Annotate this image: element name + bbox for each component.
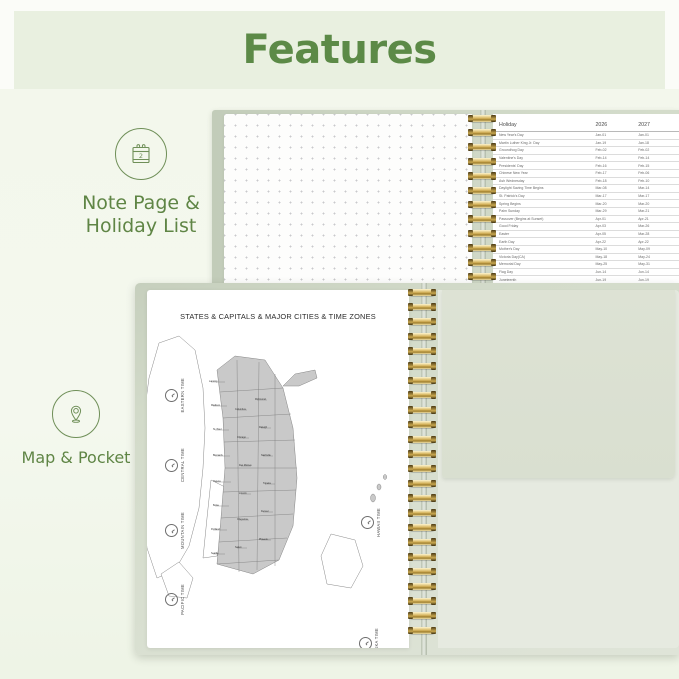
svg-text:Lincoln: Lincoln	[239, 492, 247, 495]
holiday-name: Flag Day	[493, 268, 593, 276]
spiral-coil	[469, 201, 495, 208]
svg-text:Richmond: Richmond	[255, 398, 266, 401]
spiral-coil	[409, 348, 435, 355]
holiday-table-header-row: Holiday 2026 2027	[493, 120, 679, 132]
holiday-date-2026: Mar-08	[593, 185, 636, 193]
holiday-date-2027: Mar-20	[636, 200, 679, 208]
holiday-row: Earth DayApr-22Apr-22	[493, 238, 679, 246]
map-page: STATES & CAPITALS & MAJOR CITIES & TIME …	[147, 290, 409, 648]
holiday-date-2026: Jun-14	[593, 268, 636, 276]
holiday-row: Daylight Saving Time BeginsMar-08Mar-14	[493, 185, 679, 193]
holiday-row: Flag DayJun-14Jun-14	[493, 268, 679, 276]
spiral-coil	[409, 583, 435, 590]
holiday-row: EasterApr-05Mar-28	[493, 230, 679, 238]
feature-map-pocket: Map & Pocket	[10, 390, 142, 468]
holiday-name: Valentine's Day	[493, 154, 593, 162]
holiday-row: Chinese New YearFeb-17Feb-06	[493, 169, 679, 177]
holiday-date-2026: May-18	[593, 253, 636, 261]
holiday-name: Chinese New Year	[493, 169, 593, 177]
holiday-name: Victoria Day(CA)	[493, 253, 593, 261]
holiday-date-2027: Apr-21	[636, 215, 679, 223]
svg-text:Salem: Salem	[235, 546, 242, 549]
holiday-row: Groundhog DayFeb-02Feb-02	[493, 147, 679, 155]
holiday-name: Daylight Saving Time Begins	[493, 185, 593, 193]
spiral-coil	[409, 289, 435, 296]
us-map-illustration: Seattle Portland Boise Helena Bismarck S…	[147, 326, 409, 648]
holiday-date-2027: Jan-01	[636, 132, 679, 140]
spiral-coil	[409, 304, 435, 311]
holiday-date-2026: Feb-16	[593, 162, 636, 170]
holiday-date-2026: May-25	[593, 261, 636, 269]
svg-text:Portland: Portland	[211, 528, 221, 531]
spiral-coil	[469, 187, 495, 194]
time-zone-hawaii: HAWAII TIME	[361, 508, 382, 537]
spiral-coil	[469, 230, 495, 237]
holiday-name: Passover (Begins at Sunset)	[493, 215, 593, 223]
holiday-col-name: Holiday	[493, 120, 593, 132]
svg-text:Des Moines: Des Moines	[239, 464, 252, 467]
holiday-date-2027: Feb-14	[636, 154, 679, 162]
holiday-list-page: Holiday 2026 2027 New Year's DayJan-01Ja…	[493, 114, 679, 296]
spiral-coil	[409, 539, 435, 546]
spiral-coil	[469, 173, 495, 180]
holiday-date-2026: Feb-17	[593, 169, 636, 177]
clock-icon	[359, 637, 372, 648]
map-page-title: STATES & CAPITALS & MAJOR CITIES & TIME …	[147, 312, 409, 321]
holiday-row: Valentine's DayFeb-14Feb-14	[493, 154, 679, 162]
holiday-col-2027: 2027	[636, 120, 679, 132]
holiday-row: St. Patrick's DayMar-17Mar-17	[493, 192, 679, 200]
page-title: Features	[14, 11, 665, 89]
holiday-name: Mother's Day	[493, 245, 593, 253]
holiday-date-2027: Mar-26	[636, 223, 679, 231]
time-zone-pacific-label: PACIFIC TIME	[181, 584, 186, 615]
holiday-name: Presidents' Day	[493, 162, 593, 170]
time-zone-hawaii-label: HAWAII TIME	[377, 508, 382, 537]
spiral-coil	[409, 377, 435, 384]
holiday-name: Easter	[493, 230, 593, 238]
spiral-coil	[469, 115, 495, 122]
svg-text:Helena: Helena	[213, 480, 221, 483]
pocket-flap	[442, 290, 675, 478]
holiday-date-2027: Mar-28	[636, 230, 679, 238]
spiral-coil	[409, 363, 435, 370]
feature-note-holiday-label-line2: Holiday List	[56, 215, 226, 238]
svg-text:St. Paul: St. Paul	[213, 428, 222, 431]
holiday-row: Spring BeginsMar-20Mar-20	[493, 200, 679, 208]
holiday-date-2027: May-09	[636, 245, 679, 253]
spiral-coil	[409, 510, 435, 517]
holiday-date-2026: Feb-02	[593, 147, 636, 155]
svg-text:Raleigh: Raleigh	[259, 426, 268, 429]
svg-text:Lansing: Lansing	[209, 380, 218, 383]
holiday-date-2026: Jan-19	[593, 139, 636, 147]
clock-icon	[165, 593, 178, 606]
holiday-name: Earth Day	[493, 238, 593, 246]
holiday-row: Martin Luther King Jr. DayJan-19Jan-18	[493, 139, 679, 147]
holiday-date-2027: Mar-14	[636, 185, 679, 193]
holiday-date-2027: May-24	[636, 253, 679, 261]
holiday-date-2027: Feb-10	[636, 177, 679, 185]
feature-note-holiday-label-line1: Note Page &	[56, 192, 226, 215]
holiday-date-2027: Feb-02	[636, 147, 679, 155]
holiday-date-2026: Apr-05	[593, 230, 636, 238]
holiday-date-2027: Jun-14	[636, 268, 679, 276]
clock-icon	[361, 516, 374, 529]
clock-icon	[165, 389, 178, 402]
spiral-coil	[409, 436, 435, 443]
holiday-date-2026: Feb-14	[593, 154, 636, 162]
time-zone-eastern-label: EASTERN TIME	[181, 378, 186, 412]
time-zone-mountain-label: MOUNTAIN TIME	[181, 512, 186, 549]
svg-text:Chicago: Chicago	[237, 436, 246, 439]
holiday-table: Holiday 2026 2027 New Year's DayJan-01Ja…	[493, 120, 679, 284]
time-zone-pacific: PACIFIC TIME	[165, 584, 186, 615]
svg-text:Columbus: Columbus	[235, 408, 247, 411]
holiday-name: St. Patrick's Day	[493, 192, 593, 200]
holiday-row: Ash WednesdayFeb-18Feb-10	[493, 177, 679, 185]
spiral-coil	[409, 407, 435, 414]
svg-text:Nashville: Nashville	[261, 454, 271, 457]
dot-grid-note-page	[224, 114, 472, 296]
time-zone-alaska: ALASKA TIME	[359, 628, 380, 648]
svg-text:Bismarck: Bismarck	[213, 454, 224, 457]
holiday-table-body: New Year's DayJan-01Jan-01Martin Luther …	[493, 132, 679, 284]
holiday-date-2027: May-31	[636, 261, 679, 269]
holiday-row: Victoria Day(CA)May-18May-24	[493, 253, 679, 261]
spiral-coil	[469, 273, 495, 280]
svg-text:Topeka: Topeka	[263, 482, 271, 485]
holiday-date-2027: Mar-17	[636, 192, 679, 200]
holiday-date-2026: Jan-01	[593, 132, 636, 140]
holiday-date-2026: Feb-18	[593, 177, 636, 185]
holiday-date-2026: Mar-20	[593, 200, 636, 208]
calendar-icon: 2	[115, 128, 167, 180]
holiday-date-2026: Apr-01	[593, 215, 636, 223]
svg-text:Denver: Denver	[261, 510, 269, 513]
holiday-name: New Year's Day	[493, 132, 593, 140]
feature-map-pocket-label: Map & Pocket	[10, 448, 142, 468]
spiral-coil	[409, 627, 435, 634]
clock-icon	[165, 524, 178, 537]
spiral-coil	[409, 612, 435, 619]
holiday-date-2026: Apr-03	[593, 223, 636, 231]
holiday-date-2027: Apr-22	[636, 238, 679, 246]
holiday-date-2026: Mar-17	[593, 192, 636, 200]
spiral-coil	[469, 245, 495, 252]
feature-note-holiday: 2 Note Page & Holiday List	[56, 128, 226, 238]
spiral-coil	[469, 216, 495, 223]
spiral-coil	[469, 158, 495, 165]
svg-text:Madison: Madison	[211, 404, 221, 407]
holiday-row: Palm SundayMar-29Mar-21	[493, 207, 679, 215]
spiral-binding-top	[468, 110, 498, 298]
spiral-coil	[469, 259, 495, 266]
spiral-coil	[409, 451, 435, 458]
calendar-icon-badge: 2	[139, 152, 143, 160]
holiday-date-2027: Feb-15	[636, 162, 679, 170]
spiral-coil	[409, 465, 435, 472]
spiral-binding-bottom	[407, 283, 441, 655]
spiral-coil	[409, 392, 435, 399]
spiral-coil	[409, 333, 435, 340]
spiral-coil	[409, 480, 435, 487]
holiday-name: Spring Begins	[493, 200, 593, 208]
spiral-coil	[409, 598, 435, 605]
spiral-coil	[409, 554, 435, 561]
holiday-name: Ash Wednesday	[493, 177, 593, 185]
svg-text:Phoenix: Phoenix	[259, 538, 268, 541]
spiral-coil	[409, 421, 435, 428]
folder-pocket	[438, 290, 679, 648]
holiday-date-2026: Mar-29	[593, 207, 636, 215]
notebook-map-pocket: STATES & CAPITALS & MAJOR CITIES & TIME …	[135, 283, 679, 655]
holiday-row: Good FridayApr-03Mar-26	[493, 223, 679, 231]
svg-text:Boise: Boise	[213, 504, 220, 507]
holiday-col-2026: 2026	[593, 120, 636, 132]
holiday-row: Passover (Begins at Sunset)Apr-01Apr-21	[493, 215, 679, 223]
svg-text:Cheyenne: Cheyenne	[237, 518, 249, 521]
holiday-name: Groundhog Day	[493, 147, 593, 155]
holiday-date-2026: Apr-22	[593, 238, 636, 246]
holiday-name: Martin Luther King Jr. Day	[493, 139, 593, 147]
holiday-name: Memorial Day	[493, 261, 593, 269]
holiday-date-2027: Jan-18	[636, 139, 679, 147]
holiday-row: Memorial DayMay-25May-31	[493, 261, 679, 269]
notebook-note-holiday: Holiday 2026 2027 New Year's DayJan-01Ja…	[212, 110, 679, 298]
time-zone-central: CENTRAL TIME	[165, 448, 186, 482]
holiday-row: Presidents' DayFeb-16Feb-15	[493, 162, 679, 170]
holiday-date-2027: Feb-06	[636, 169, 679, 177]
spiral-coil	[409, 524, 435, 531]
svg-text:Seattle: Seattle	[211, 552, 219, 555]
spiral-coil	[469, 129, 495, 136]
holiday-name: Good Friday	[493, 223, 593, 231]
header-band: Features	[14, 11, 665, 89]
spiral-coil	[409, 495, 435, 502]
map-pin-icon	[52, 390, 100, 438]
time-zone-eastern: EASTERN TIME	[165, 378, 186, 412]
clock-icon	[165, 459, 178, 472]
spiral-coil	[409, 318, 435, 325]
spiral-coil	[469, 144, 495, 151]
time-zone-central-label: CENTRAL TIME	[181, 448, 186, 482]
holiday-row: Mother's DayMay-10May-09	[493, 245, 679, 253]
holiday-name: Palm Sunday	[493, 207, 593, 215]
time-zone-mountain: MOUNTAIN TIME	[165, 512, 186, 549]
holiday-date-2027: Mar-21	[636, 207, 679, 215]
spiral-coil	[409, 568, 435, 575]
holiday-date-2026: May-10	[593, 245, 636, 253]
holiday-row: New Year's DayJan-01Jan-01	[493, 132, 679, 140]
time-zone-alaska-label: ALASKA TIME	[375, 628, 380, 648]
